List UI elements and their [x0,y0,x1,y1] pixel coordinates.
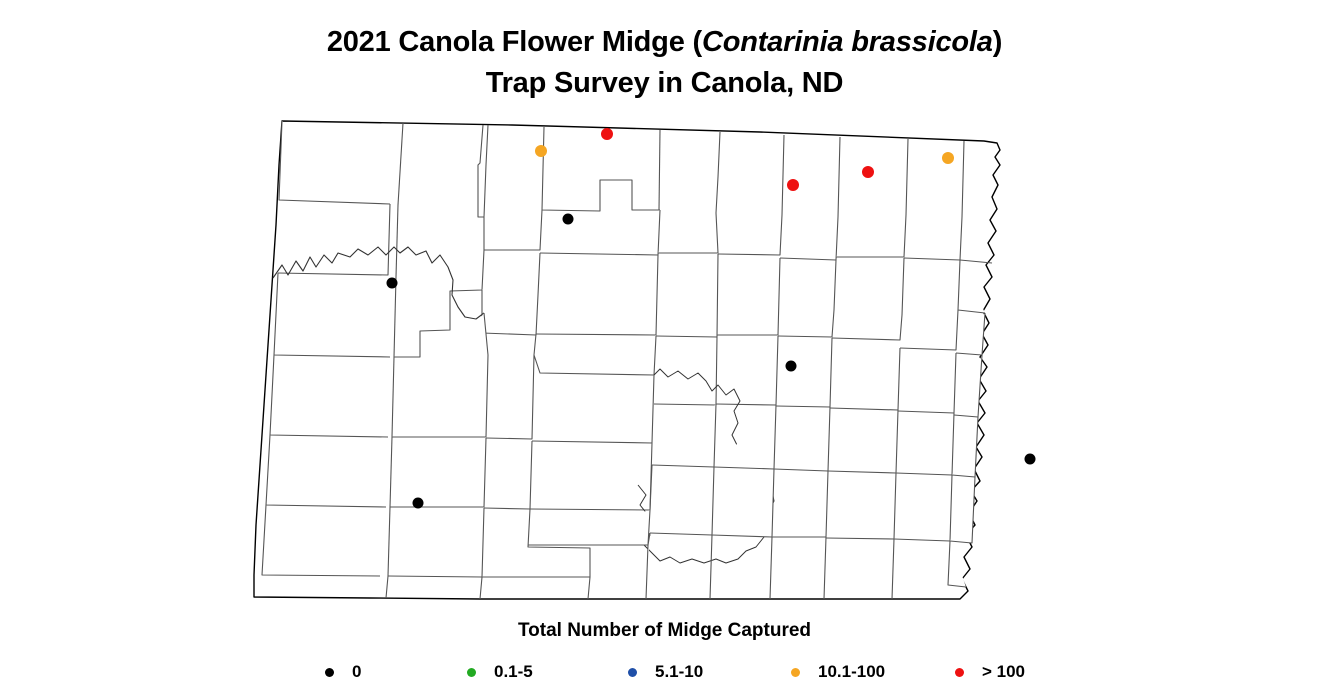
north-dakota-map [240,105,1090,620]
legend-dot-icon [955,668,964,677]
map-svg [240,105,1090,620]
trap-site-5 [787,179,799,191]
midge-trap-survey-map: 2021 Canola Flower Midge (Contarinia bra… [0,0,1329,699]
trap-site-4 [862,166,874,178]
legend: 00.1-55.1-1010.1-100> 100 [325,658,1055,688]
legend-item-0: 0 [325,658,361,686]
title-prefix: 2021 Canola Flower Midge ( [327,26,702,58]
legend-dot-icon [325,668,334,677]
legend-item-2: 5.1-10 [628,658,703,686]
legend-heading: Total Number of Midge Captured [0,620,1329,642]
page-title: 2021 Canola Flower Midge (Contarinia bra… [0,22,1329,104]
legend-item-label: > 100 [982,662,1025,682]
trap-site-9 [1025,454,1036,465]
title-line-1: 2021 Canola Flower Midge (Contarinia bra… [0,22,1329,63]
legend-item-4: > 100 [955,658,1025,686]
title-line-2: Trap Survey in Canola, ND [0,63,1329,104]
species-name: Contarinia brassicola [702,26,993,58]
trap-site-8 [786,361,797,372]
legend-dot-icon [791,668,800,677]
trap-site-10 [413,498,424,509]
legend-item-1: 0.1-5 [467,658,533,686]
trap-site-7 [387,278,398,289]
legend-item-label: 0.1-5 [494,662,533,682]
legend-item-label: 0 [352,662,361,682]
legend-dot-icon [628,668,637,677]
trap-site-3 [942,152,954,164]
legend-dot-icon [467,668,476,677]
title-suffix: ) [993,26,1002,58]
trap-site-6 [563,214,574,225]
legend-item-label: 5.1-10 [655,662,703,682]
map-geometry [254,121,1000,599]
trap-site-1 [601,128,613,140]
county-line [484,210,542,250]
trap-site-2 [535,145,547,157]
legend-item-label: 10.1-100 [818,662,885,682]
legend-item-3: 10.1-100 [791,658,885,686]
